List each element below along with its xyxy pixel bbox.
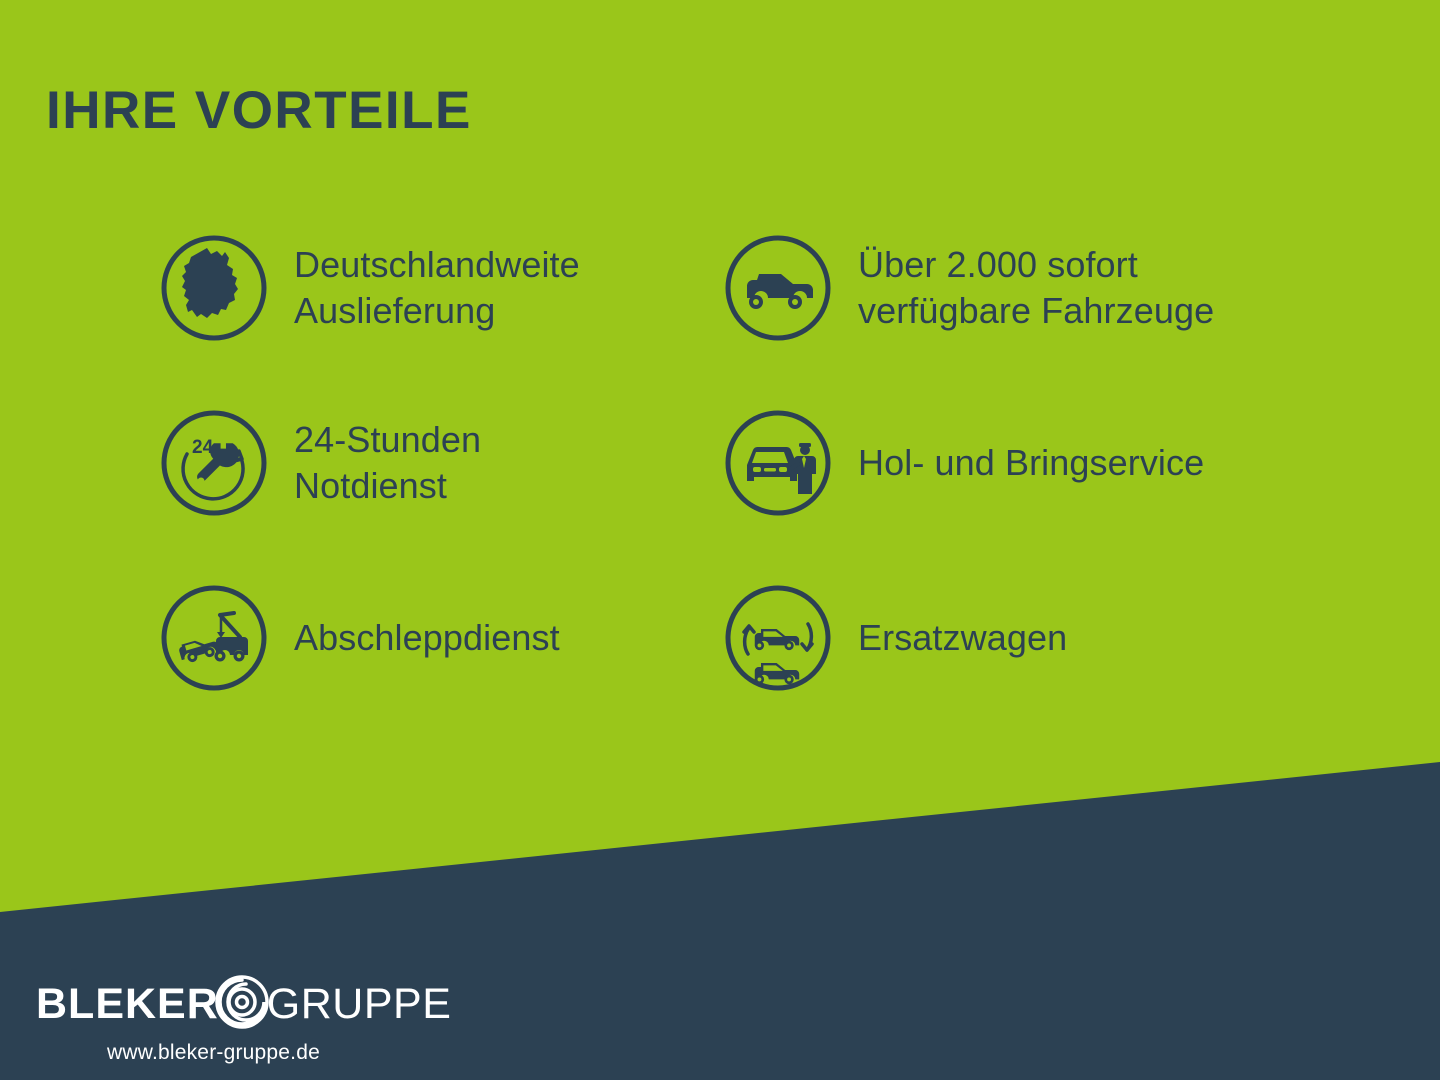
two-cars-swap-arrows-icon bbox=[722, 582, 834, 694]
benefit-item-hol-und-bringservice: Hol- und Bringservice bbox=[722, 407, 1204, 519]
page-title: IHRE VORTEILE bbox=[46, 84, 472, 137]
car-front-with-driver-icon bbox=[722, 407, 834, 519]
clock-24-wrench-icon: 24 bbox=[158, 407, 270, 519]
benefit-item-24-stunden-notdienst: 24 24-Stunden Notdienst bbox=[158, 407, 481, 519]
logo-secondary-text: GRUPPE bbox=[267, 983, 452, 1026]
logo-primary-text: BLEKER bbox=[36, 983, 219, 1026]
spiral-icon bbox=[213, 973, 271, 1036]
green-background-panel bbox=[0, 0, 1440, 1080]
tow-truck-icon bbox=[158, 582, 270, 694]
benefit-item-abschleppdienst: Abschleppdienst bbox=[158, 582, 560, 694]
germany-map-icon bbox=[158, 232, 270, 344]
benefit-label: Abschleppdienst bbox=[294, 615, 560, 661]
logo-wordmark-row: BLEKER GRUPPE bbox=[36, 975, 416, 1033]
benefit-item-deutschlandweite-auslieferung: Deutschlandweite Auslieferung bbox=[158, 232, 580, 344]
benefit-label: Ersatzwagen bbox=[858, 615, 1067, 661]
benefit-label: Über 2.000 sofort verfügbare Fahrzeuge bbox=[858, 242, 1214, 334]
benefit-label: 24-Stunden Notdienst bbox=[294, 417, 481, 509]
company-logo: BLEKER GRUPPE www.bleker-gruppe.de bbox=[36, 975, 416, 1070]
benefit-label: Hol- und Bringservice bbox=[858, 440, 1204, 486]
car-side-icon bbox=[722, 232, 834, 344]
benefit-item-ersatzwagen: Ersatzwagen bbox=[722, 582, 1067, 694]
logo-website-url: www.bleker-gruppe.de bbox=[36, 1041, 391, 1065]
svg-text:24: 24 bbox=[192, 437, 214, 458]
benefit-item-verfuegbare-fahrzeuge: Über 2.000 sofort verfügbare Fahrzeuge bbox=[722, 232, 1214, 344]
benefit-label: Deutschlandweite Auslieferung bbox=[294, 242, 580, 334]
slide-canvas: IHRE VORTEILE Deutschlandweite Ausliefer… bbox=[0, 0, 1440, 1080]
